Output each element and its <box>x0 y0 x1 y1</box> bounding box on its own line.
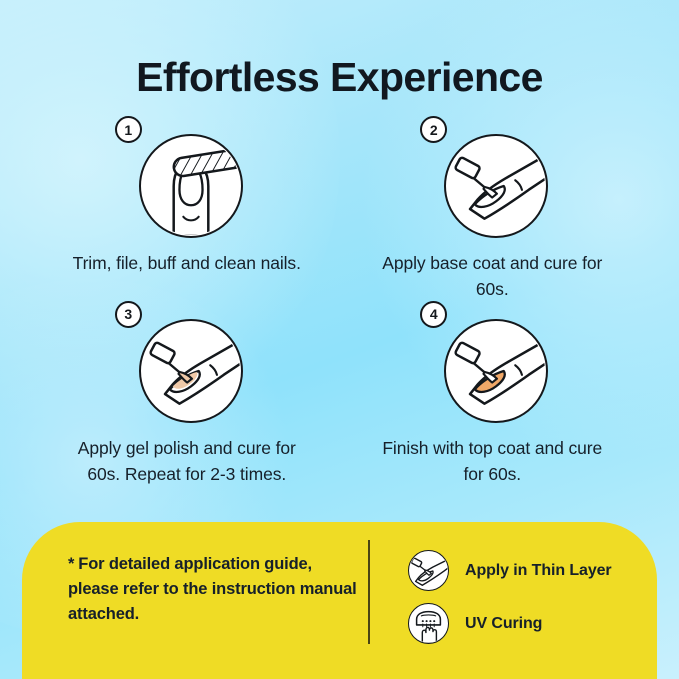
step-item-3: 3 <box>34 311 340 488</box>
footer-note-text: For detailed application guide, please r… <box>68 555 357 623</box>
step-2-number-badge: 2 <box>420 116 447 143</box>
footer-divider <box>368 540 370 644</box>
footer-features: Apply in Thin Layer <box>408 550 612 644</box>
step-3-icon-wrap: 3 <box>131 311 243 423</box>
feature-label-uv-curing: UV Curing <box>465 615 542 633</box>
footer-panel: *For detailed application guide, please … <box>22 522 657 679</box>
step-1-caption: Trim, file, buff and clean nails. <box>73 250 301 276</box>
infographic-poster: Effortless Experience 1 <box>0 0 679 679</box>
feature-row-thin-layer: Apply in Thin Layer <box>408 550 612 591</box>
gel-polish-brush-icon <box>139 319 243 423</box>
base-coat-brush-icon <box>444 134 548 238</box>
feature-row-uv-curing: UV Curing <box>408 603 612 644</box>
step-4-icon-wrap: 4 <box>436 311 548 423</box>
nail-file-icon <box>139 134 243 238</box>
step-3-number-badge: 3 <box>115 301 142 328</box>
footer-note: *For detailed application guide, please … <box>68 552 358 627</box>
step-1-icon-wrap: 1 <box>131 126 243 238</box>
footer-note-asterisk: * <box>68 552 74 577</box>
step-4-caption: Finish with top coat and cure for 60s. <box>377 435 607 488</box>
step-item-1: 1 <box>34 126 340 303</box>
step-1-number-badge: 1 <box>115 116 142 143</box>
top-coat-brush-icon <box>444 319 548 423</box>
thin-layer-brush-icon <box>408 550 449 591</box>
page-title: Effortless Experience <box>0 54 679 101</box>
uv-lamp-icon <box>408 603 449 644</box>
step-2-caption: Apply base coat and cure for 60s. <box>377 250 607 303</box>
step-item-4: 4 <box>340 311 646 488</box>
step-2-icon-wrap: 2 <box>436 126 548 238</box>
step-3-caption: Apply gel polish and cure for 60s. Repea… <box>72 435 302 488</box>
feature-label-thin-layer: Apply in Thin Layer <box>465 562 612 580</box>
step-4-number-badge: 4 <box>420 301 447 328</box>
step-item-2: 2 <box>340 126 646 303</box>
steps-grid: 1 <box>34 126 645 487</box>
